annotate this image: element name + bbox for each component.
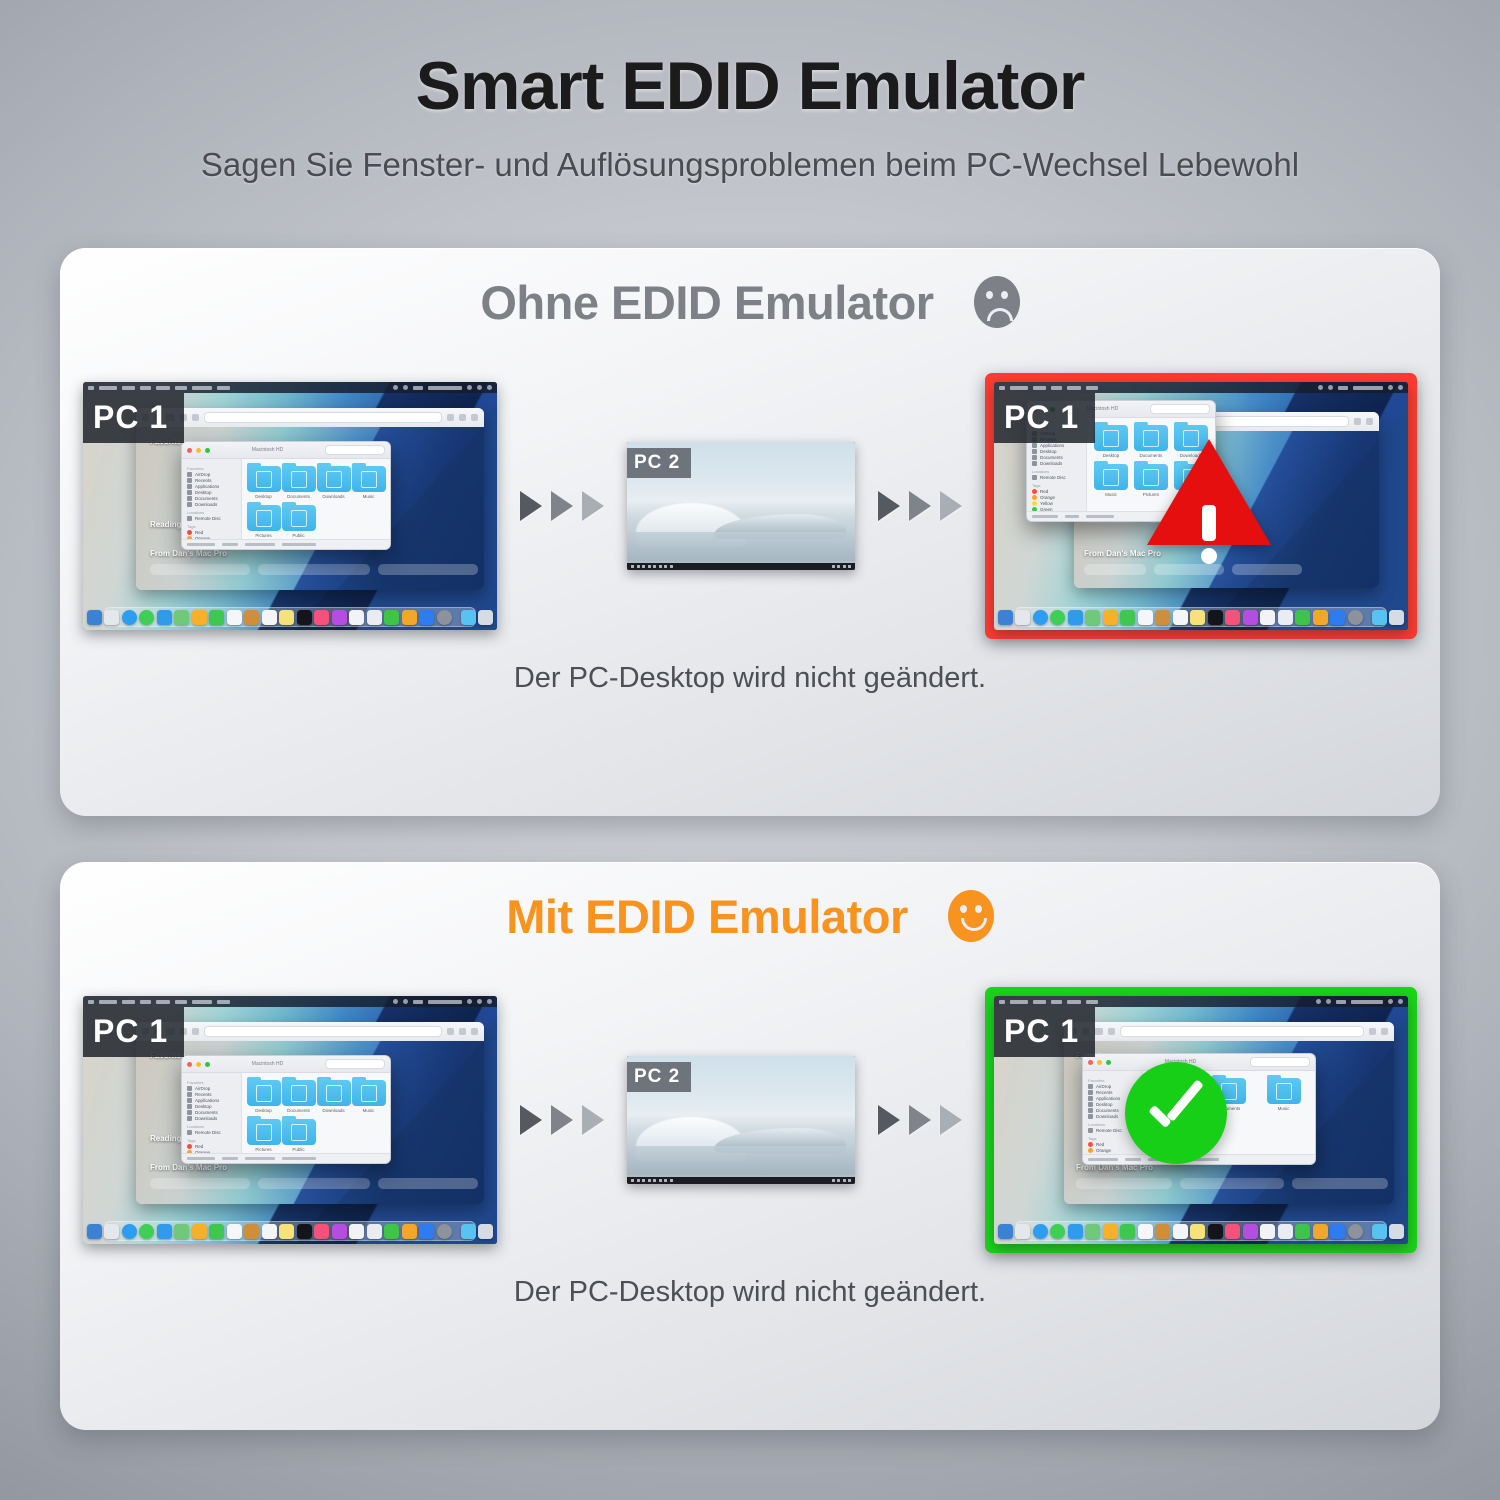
folder-icon (352, 466, 386, 492)
sidebar-tag-red[interactable]: Red (187, 530, 238, 535)
photos-icon[interactable] (1103, 1224, 1118, 1239)
appletv-icon[interactable] (297, 1224, 312, 1239)
folder-item[interactable]: Music (351, 1080, 386, 1113)
sidebar-group-label: Locations (187, 510, 238, 515)
messages-icon[interactable] (139, 610, 154, 625)
mail-icon[interactable] (157, 1224, 172, 1239)
downloads-folder-icon[interactable] (461, 610, 476, 625)
sidebar-item-documents[interactable]: Documents (187, 1110, 238, 1115)
folder-item[interactable]: Pictures (246, 1119, 281, 1152)
sad-face-icon (974, 276, 1020, 328)
downloads-folder-icon[interactable] (461, 1224, 476, 1239)
page-title: Smart EDID Emulator (0, 52, 1500, 120)
calendar-icon[interactable] (1138, 610, 1153, 625)
screen-source-pc1-without: PC 1 Favorites Reading List From Dan's M… (83, 382, 497, 630)
arrow-right-icon (940, 491, 962, 521)
finder-titlebar: Macintosh HD (182, 1056, 390, 1073)
macos-dock[interactable] (1015, 607, 1388, 627)
photos-icon[interactable] (192, 610, 207, 625)
panel-without-caption: Der PC-Desktop wird nicht geändert. (60, 656, 1440, 695)
safari-address-bar[interactable] (204, 1026, 442, 1037)
downloads-folder-icon[interactable] (1372, 1224, 1387, 1239)
result-frame-success: PC 1 Favorites From Dan's Mac Pro (985, 987, 1417, 1253)
pages-icon[interactable] (402, 1224, 417, 1239)
appstore-icon[interactable] (367, 1224, 382, 1239)
mail-icon[interactable] (157, 610, 172, 625)
folder-item[interactable]: Public (281, 1119, 316, 1152)
pc-badge: PC 2 (627, 1062, 691, 1092)
arrow-right-icon (909, 491, 931, 521)
contacts-icon[interactable] (244, 610, 259, 625)
finder-file-grid: Desktop Documents Downloads Music Pictur… (242, 459, 390, 550)
safari-icon[interactable] (1033, 610, 1048, 625)
news-icon[interactable] (349, 610, 364, 625)
panel-with-header: Mit EDID Emulator (60, 862, 1440, 970)
podcasts-icon[interactable] (1243, 1224, 1258, 1239)
numbers-icon[interactable] (1295, 610, 1310, 625)
finder-statusbar (182, 539, 390, 549)
safari-shared-heading: From Dan's Mac Pro (1084, 549, 1161, 558)
safari-icon[interactable] (122, 1224, 137, 1239)
panel-without-header: Ohne EDID Emulator (60, 248, 1440, 356)
close-icon[interactable] (187, 1062, 192, 1067)
reminders-icon[interactable] (1173, 1224, 1188, 1239)
safari-toolbar (1064, 1022, 1394, 1042)
macos-dock[interactable] (104, 607, 477, 627)
settings-icon[interactable] (437, 610, 452, 625)
news-icon[interactable] (1260, 610, 1275, 625)
sidebar-group-label: Locations (1032, 469, 1083, 474)
safari-link-3[interactable] (1292, 1178, 1388, 1189)
arrow-right-icon (582, 491, 604, 521)
sidebar-item-applications[interactable]: Applications (187, 1098, 238, 1103)
arrow-right-icon (582, 1105, 604, 1135)
folder-item[interactable]: Music (1091, 464, 1131, 497)
screen-pc2-windows-without: PC 2 (627, 442, 855, 570)
reminders-icon[interactable] (1173, 610, 1188, 625)
contacts-icon[interactable] (244, 1224, 259, 1239)
folder-icon (247, 505, 281, 531)
macos-menubar (83, 996, 497, 1007)
contacts-icon[interactable] (1155, 1224, 1170, 1239)
sidebar-group-label: Tags (187, 524, 238, 529)
arrow-group-1-without (497, 491, 627, 521)
safari-address-bar[interactable] (204, 412, 442, 423)
finder-search-input[interactable] (325, 445, 385, 455)
launchpad-icon[interactable] (1015, 610, 1030, 625)
pages-icon[interactable] (402, 610, 417, 625)
facetime-icon[interactable] (1120, 610, 1135, 625)
arrow-right-icon (909, 1105, 931, 1135)
folder-item[interactable]: Music (351, 466, 386, 499)
sidebar-item-recents[interactable]: Recents (187, 478, 238, 483)
downloads-folder-icon[interactable] (1372, 610, 1387, 625)
news-icon[interactable] (349, 1224, 364, 1239)
appletv-icon[interactable] (297, 610, 312, 625)
arrow-right-icon (878, 1105, 900, 1135)
safari-link-1[interactable] (150, 1178, 250, 1189)
messages-icon[interactable] (139, 1224, 154, 1239)
sidebar-group-label: Locations (187, 1124, 238, 1129)
windows-taskbar[interactable] (627, 1177, 855, 1184)
photos-icon[interactable] (1103, 610, 1118, 625)
pages-icon[interactable] (1313, 1224, 1328, 1239)
appstore-icon[interactable] (367, 610, 382, 625)
messages-icon[interactable] (1050, 1224, 1065, 1239)
finder-icon[interactable] (87, 1224, 102, 1239)
folder-icon (247, 466, 281, 492)
music-icon[interactable] (1225, 1224, 1240, 1239)
launchpad-icon[interactable] (1015, 1224, 1030, 1239)
maps-icon[interactable] (1085, 1224, 1100, 1239)
arrow-group-1-with (497, 1105, 627, 1135)
safari-toolbar (136, 408, 484, 428)
calendar-icon[interactable] (1138, 1224, 1153, 1239)
pc-badge: PC 1 (994, 1007, 1095, 1057)
arrow-group-2-with (855, 1105, 985, 1135)
macos-menubar (83, 382, 497, 393)
music-icon[interactable] (1225, 610, 1240, 625)
mail-icon[interactable] (1068, 1224, 1083, 1239)
minimize-icon[interactable] (196, 448, 201, 453)
folder-icon (282, 505, 316, 531)
sidebar-item-applications[interactable]: Applications (187, 484, 238, 489)
folder-icon (282, 1080, 316, 1106)
notes-icon[interactable] (279, 610, 294, 625)
sidebar-group-label: Favorites (1088, 1078, 1139, 1083)
settings-icon[interactable] (1348, 1224, 1363, 1239)
pages-icon[interactable] (1313, 610, 1328, 625)
sidebar-tag-red[interactable]: Red (187, 1144, 238, 1149)
panel-without-emulator: Ohne EDID Emulator PC 1 (60, 248, 1440, 816)
calendar-icon[interactable] (227, 610, 242, 625)
minimize-icon[interactable] (196, 1062, 201, 1067)
arrow-right-icon (878, 491, 900, 521)
news-icon[interactable] (1260, 1224, 1275, 1239)
finder-sidebar: Favorites AirDrop Recents Applications D… (182, 459, 242, 550)
finder-search-input[interactable] (1150, 404, 1210, 414)
windows-taskbar[interactable] (627, 563, 855, 570)
finder-window-title: Macintosh HD (214, 447, 321, 453)
sidebar-item-documents[interactable]: Documents (187, 496, 238, 501)
finder-search-input[interactable] (325, 1059, 385, 1069)
folder-icon (352, 1080, 386, 1106)
folder-icon (282, 1119, 316, 1145)
safari-link-3[interactable] (1084, 564, 1146, 575)
sidebar-group-label: Favorites (187, 466, 238, 471)
sidebar-item-airdrop[interactable]: AirDrop (187, 472, 238, 477)
folder-item[interactable]: Downloads (316, 1080, 351, 1113)
music-icon[interactable] (314, 1224, 329, 1239)
safari-link-2[interactable] (258, 564, 370, 575)
minimize-icon[interactable] (1097, 1060, 1102, 1065)
page-header: Smart EDID Emulator Sagen Sie Fenster- u… (0, 0, 1500, 184)
appstore-icon[interactable] (1278, 1224, 1293, 1239)
sidebar-item-desktop[interactable]: Desktop (187, 1104, 238, 1109)
settings-icon[interactable] (1348, 610, 1363, 625)
facetime-icon[interactable] (1120, 1224, 1135, 1239)
finder-icon[interactable] (87, 610, 102, 625)
numbers-icon[interactable] (384, 610, 399, 625)
folder-item[interactable]: Desktop (246, 1080, 281, 1113)
macos-dock[interactable] (104, 1221, 477, 1241)
folder-icon (1267, 1078, 1301, 1104)
xcode-icon[interactable] (419, 610, 434, 625)
sidebar-tag-orange[interactable]: Orange (1032, 495, 1083, 500)
sidebar-item-desktop[interactable]: Desktop (1032, 449, 1083, 454)
sidebar-item-downloads[interactable]: Downloads (187, 1116, 238, 1121)
trash-icon[interactable] (1389, 1224, 1404, 1239)
sidebar-item-remote-disc[interactable]: Remote Disc (187, 516, 238, 521)
arrow-right-icon (520, 491, 542, 521)
maps-icon[interactable] (1085, 610, 1100, 625)
launchpad-icon[interactable] (104, 610, 119, 625)
pc-badge: PC 1 (994, 393, 1095, 443)
screen-result-pc1-ok: PC 1 Favorites From Dan's Mac Pro (994, 996, 1408, 1244)
panel-with-title: Mit EDID Emulator (506, 889, 907, 944)
pc-badge: PC 1 (83, 1007, 184, 1057)
finder-body: Favorites AirDrop Recents Applications D… (182, 1073, 390, 1164)
safari-link-1[interactable] (1076, 1178, 1172, 1189)
sidebar-item-airdrop[interactable]: AirDrop (187, 1086, 238, 1091)
safari-link-2[interactable] (258, 1178, 370, 1189)
sidebar-item-downloads[interactable]: Downloads (187, 502, 238, 507)
folder-icon (247, 1119, 281, 1145)
maximize-icon[interactable] (205, 1062, 210, 1067)
close-icon[interactable] (187, 448, 192, 453)
panel-with-stage: PC 1 Favorites Reading List From Dan's M… (60, 970, 1440, 1270)
folder-icon (1094, 425, 1128, 451)
close-icon[interactable] (1088, 1060, 1093, 1065)
maximize-icon[interactable] (205, 448, 210, 453)
maximize-icon[interactable] (1106, 1060, 1111, 1065)
finder-search-input[interactable] (1250, 1057, 1310, 1067)
notes-icon[interactable] (279, 1224, 294, 1239)
panel-with-emulator: Mit EDID Emulator PC 1 (60, 862, 1440, 1430)
pc-badge: PC 1 (83, 393, 184, 443)
photos-icon[interactable] (192, 1224, 207, 1239)
happy-face-icon (948, 890, 994, 942)
panel-without-title: Ohne EDID Emulator (480, 275, 933, 330)
safari-shared-heading: From Dan's Mac Pro (150, 549, 227, 558)
arrow-right-icon (520, 1105, 542, 1135)
safari-link-3[interactable] (378, 1178, 478, 1189)
result-frame-error: PC 1 Reading List From Dan's Mac Pro (985, 373, 1417, 639)
finder-statusbar (182, 1153, 390, 1163)
sidebar-group-label: Tags (1032, 483, 1083, 488)
podcasts-icon[interactable] (1243, 610, 1258, 625)
podcasts-icon[interactable] (332, 610, 347, 625)
sidebar-tag-yellow[interactable]: Yellow (1032, 501, 1083, 506)
safari-link-4[interactable] (1154, 564, 1224, 575)
safari-link-1[interactable] (150, 564, 250, 575)
screen-pc2-windows-with: PC 2 (627, 1056, 855, 1184)
messages-icon[interactable] (1050, 610, 1065, 625)
notes-icon[interactable] (1190, 610, 1205, 625)
facetime-icon[interactable] (209, 1224, 224, 1239)
check-circle-icon (1125, 1062, 1227, 1164)
arrow-right-icon (940, 1105, 962, 1135)
finder-window-title: Macintosh HD (214, 1061, 321, 1067)
screen-source-pc1-with: PC 1 Favorites Reading List From Dan's M… (83, 996, 497, 1244)
folder-icon (317, 1080, 351, 1106)
safari-link-5[interactable] (1232, 564, 1302, 575)
maps-icon[interactable] (174, 610, 189, 625)
folder-item[interactable]: Music (1256, 1078, 1311, 1111)
podcasts-icon[interactable] (332, 1224, 347, 1239)
sidebar-tag-orange[interactable]: Orange (1088, 1148, 1139, 1153)
appletv-icon[interactable] (1208, 1224, 1223, 1239)
trash-icon[interactable] (478, 1224, 493, 1239)
appstore-icon[interactable] (1278, 610, 1293, 625)
folder-icon (317, 466, 351, 492)
sidebar-item-remote-disc[interactable]: Remote Disc (1032, 475, 1083, 480)
panel-without-stage: PC 1 Favorites Reading List From Dan's M… (60, 356, 1440, 656)
sidebar-item-documents[interactable]: Documents (1032, 455, 1083, 460)
facetime-icon[interactable] (209, 610, 224, 625)
sidebar-item-recents[interactable]: Recents (187, 1092, 238, 1097)
folder-item[interactable]: Desktop (246, 466, 281, 499)
settings-icon[interactable] (437, 1224, 452, 1239)
finder-sidebar: Favorites AirDrop Recents Applications D… (182, 1073, 242, 1164)
xcode-icon[interactable] (419, 1224, 434, 1239)
sidebar-tag-red[interactable]: Red (1088, 1142, 1139, 1147)
page-subtitle: Sagen Sie Fenster- und Auflösungsproblem… (0, 146, 1500, 184)
folder-item[interactable]: Public (281, 505, 316, 538)
safari-address-bar[interactable] (1120, 1026, 1364, 1037)
xcode-icon[interactable] (1330, 1224, 1345, 1239)
folder-item[interactable]: Documents (281, 466, 316, 499)
finder-icon[interactable] (998, 610, 1013, 625)
sidebar-item-desktop[interactable]: Desktop (187, 490, 238, 495)
finder-body: Favorites AirDrop Recents Applications D… (182, 459, 390, 550)
screen-result-pc1-error: PC 1 Reading List From Dan's Mac Pro (994, 382, 1408, 630)
folder-item[interactable]: Documents (281, 1080, 316, 1113)
folder-icon (282, 466, 316, 492)
safari-toolbar (136, 1022, 484, 1042)
contacts-icon[interactable] (1155, 610, 1170, 625)
reminders-icon[interactable] (262, 1224, 277, 1239)
safari-icon[interactable] (1033, 1224, 1048, 1239)
finder-window: Macintosh HD Favorites AirDrop Recents A… (181, 1055, 391, 1164)
reminders-icon[interactable] (262, 610, 277, 625)
sidebar-item-downloads[interactable]: Downloads (1032, 461, 1083, 466)
maps-icon[interactable] (174, 1224, 189, 1239)
calendar-icon[interactable] (227, 1224, 242, 1239)
music-icon[interactable] (314, 610, 329, 625)
arrow-group-2-without (855, 491, 985, 521)
notes-icon[interactable] (1190, 1224, 1205, 1239)
macos-menubar (994, 996, 1408, 1007)
arrow-right-icon (551, 491, 573, 521)
appletv-icon[interactable] (1208, 610, 1223, 625)
sidebar-item-remote-disc[interactable]: Remote Disc (187, 1130, 238, 1135)
macos-menubar (994, 382, 1408, 393)
macos-dock[interactable] (1015, 1221, 1388, 1241)
sidebar-group-label: Tags (187, 1138, 238, 1143)
pc-badge: PC 2 (627, 448, 691, 478)
trash-icon[interactable] (478, 610, 493, 625)
finder-window: Macintosh HD Favorites AirDrop Recents A… (181, 441, 391, 550)
safari-link-2[interactable] (1180, 1178, 1284, 1189)
sidebar-group-label: Favorites (187, 1080, 238, 1085)
numbers-icon[interactable] (384, 1224, 399, 1239)
mail-icon[interactable] (1068, 610, 1083, 625)
panel-with-caption: Der PC-Desktop wird nicht geändert. (60, 1270, 1440, 1309)
safari-shared-heading: From Dan's Mac Pro (150, 1163, 227, 1172)
sidebar-item-applications[interactable]: Applications (1032, 443, 1083, 448)
sidebar-tag-red[interactable]: Red (1032, 489, 1083, 494)
safari-icon[interactable] (122, 610, 137, 625)
folder-item[interactable]: Pictures (246, 505, 281, 538)
folder-icon (1094, 464, 1128, 490)
folder-icon (247, 1080, 281, 1106)
trash-icon[interactable] (1389, 610, 1404, 625)
safari-link-3[interactable] (378, 564, 478, 575)
finder-icon[interactable] (998, 1224, 1013, 1239)
finder-file-grid: Desktop Documents Downloads Music Pictur… (242, 1073, 390, 1164)
numbers-icon[interactable] (1295, 1224, 1310, 1239)
folder-item[interactable]: Desktop (1091, 425, 1131, 458)
folder-item[interactable]: Downloads (316, 466, 351, 499)
finder-titlebar: Macintosh HD (182, 442, 390, 459)
xcode-icon[interactable] (1330, 610, 1345, 625)
arrow-right-icon (551, 1105, 573, 1135)
launchpad-icon[interactable] (104, 1224, 119, 1239)
